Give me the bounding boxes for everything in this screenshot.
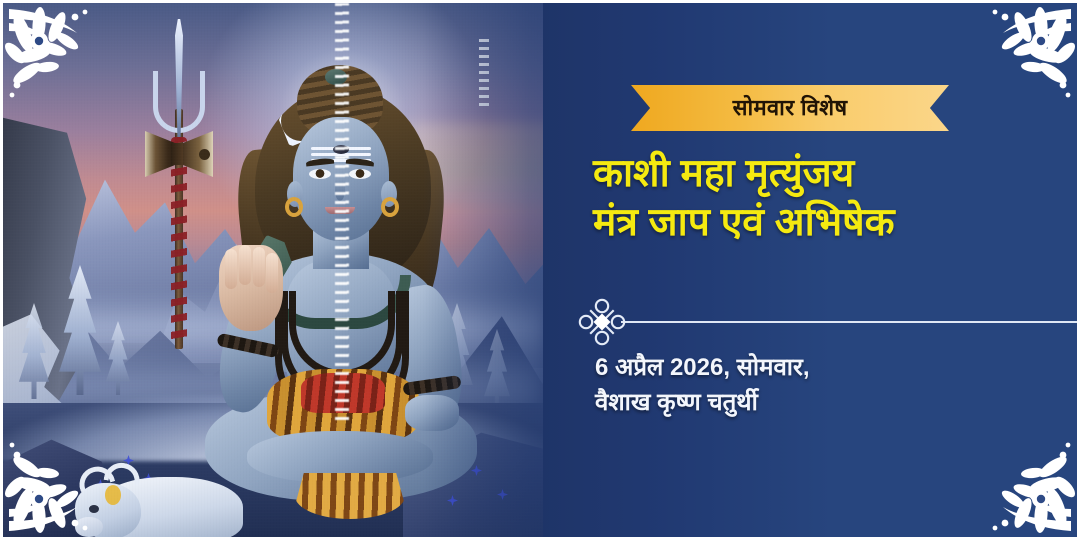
page-title: काशी महा मृत्युंजय मंत्र जाप एवं अभिषेक — [593, 149, 1063, 247]
title-line-2: मंत्र जाप एवं अभिषेक — [593, 198, 1063, 247]
tiger-skin-tail-fan — [295, 473, 405, 519]
occasion-badge: सोमवार विशेष — [631, 85, 949, 131]
occasion-badge-label: सोमवार विशेष — [733, 97, 848, 119]
finger — [239, 245, 251, 285]
eye-right — [349, 169, 371, 179]
earring-left — [285, 197, 303, 217]
finger — [253, 247, 265, 287]
ganga-stream — [335, 3, 349, 423]
knot-ornament-icon — [577, 298, 627, 346]
finger — [266, 253, 278, 293]
floral-corner-ornament-bottom-left — [3, 419, 121, 537]
floral-corner-ornament-top-left — [3, 3, 121, 121]
abhaya-mudra-hand — [219, 245, 283, 331]
event-date-line-2: वैशाख कृष्ण चतुर्थी — [595, 386, 1065, 421]
eye-left — [309, 169, 331, 179]
earring-right — [381, 197, 399, 217]
event-date: 6 अप्रैल 2026, सोमवार, वैशाख कृष्ण चतुर्… — [595, 351, 1065, 421]
finger — [225, 249, 237, 289]
floral-corner-ornament-top-right — [959, 3, 1077, 121]
event-banner: सोमवार विशेष काशी महा मृत्युंजय मंत्र जा… — [0, 0, 1080, 540]
trident-prong-left — [153, 71, 179, 133]
title-line-1: काशी महा मृत्युंजय — [593, 149, 1063, 198]
divider — [577, 321, 1080, 322]
divider-rule — [621, 321, 1080, 323]
event-date-line-1: 6 अप्रैल 2026, सोमवार, — [595, 351, 1065, 386]
floral-corner-ornament-bottom-right — [959, 419, 1077, 537]
